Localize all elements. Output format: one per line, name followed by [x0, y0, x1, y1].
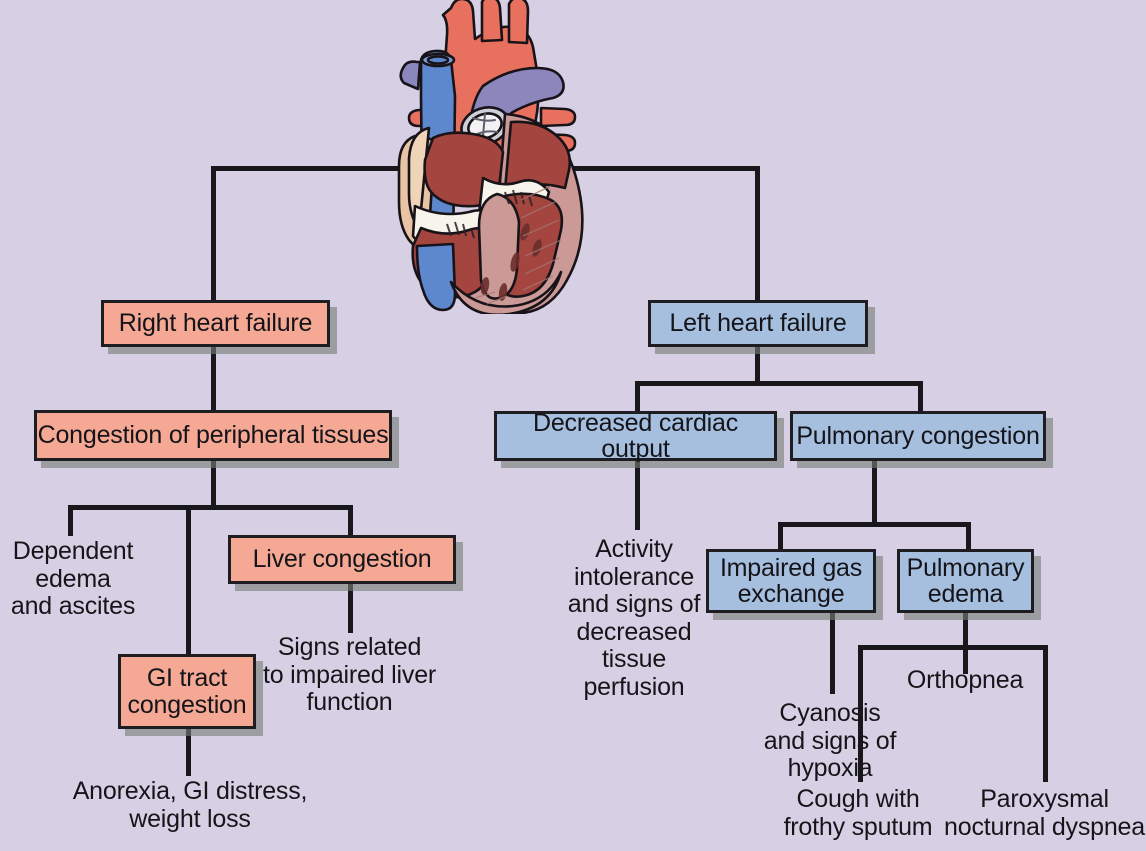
label-paroxysmal-nocturnal-dyspnea: Paroxysmal nocturnal dyspnea	[943, 786, 1146, 841]
label-signs-impaired-liver: Signs related to impaired liver function	[247, 634, 452, 717]
connector-edema-stem	[963, 612, 968, 674]
connector-to-gi-tract	[186, 505, 191, 655]
connector-lhf-stem	[755, 346, 760, 384]
connector-top-right-down	[755, 166, 760, 302]
connector-edema-horizontal	[858, 645, 1048, 650]
connector-lhf-horizontal	[635, 381, 923, 386]
label-activity-intolerance: Activity intolerance and signs of decrea…	[536, 536, 732, 701]
connector-to-pulmonary-congestion	[918, 381, 923, 412]
connector-gi-to-anorexia	[186, 728, 191, 776]
connector-liver-to-signs	[348, 583, 353, 633]
node-decreased-cardiac-output[interactable]: Decreased cardiac output	[494, 411, 777, 461]
connector-dependent-edema	[68, 505, 73, 536]
connector-top-horizontal	[211, 166, 760, 171]
node-pulmonary-congestion[interactable]: Pulmonary congestion	[790, 411, 1046, 461]
node-right-heart-failure[interactable]: Right heart failure	[101, 300, 330, 347]
label-cyanosis-hypoxia: Cyanosis and signs of hypoxia	[730, 700, 930, 783]
connector-to-liver	[348, 505, 353, 537]
connector-to-impaired-gas	[778, 522, 783, 550]
node-pulmonary-edema[interactable]: Pulmonary edema	[897, 549, 1034, 613]
node-congestion-peripheral-tissues[interactable]: Congestion of peripheral tissues	[34, 410, 392, 461]
connector-output-to-activity	[635, 460, 640, 530]
node-gi-tract-congestion[interactable]: GI tract congestion	[118, 654, 256, 729]
heart-failure-diagram: Right heart failure Congestion of periph…	[0, 0, 1146, 851]
label-dependent-edema: Dependent edema and ascites	[0, 538, 146, 621]
connector-pulmcong-stem	[872, 460, 877, 526]
connector-rhf-to-congestion	[211, 346, 216, 412]
connector-congestion-horizontal	[68, 505, 353, 510]
connector-top-left-down	[211, 166, 216, 302]
connector-congestion-stem	[211, 460, 216, 507]
label-anorexia-gi-distress: Anorexia, GI distress, weight loss	[50, 778, 330, 833]
connector-to-pulm-edema	[966, 522, 971, 550]
connector-to-decreased-output	[635, 381, 640, 412]
label-orthopnea: Orthopnea	[890, 667, 1040, 695]
node-liver-congestion[interactable]: Liver congestion	[228, 535, 456, 584]
connector-pulmcong-horizontal	[778, 522, 970, 527]
connector-gas-to-cyanosis	[830, 612, 835, 694]
label-cough-frothy-sputum: Cough with frothy sputum	[778, 786, 938, 841]
heart-cross-section-illustration	[355, 0, 655, 314]
connector-to-paroxysmal	[1043, 645, 1048, 782]
node-impaired-gas-exchange[interactable]: Impaired gas exchange	[706, 549, 876, 613]
node-left-heart-failure[interactable]: Left heart failure	[648, 300, 868, 347]
